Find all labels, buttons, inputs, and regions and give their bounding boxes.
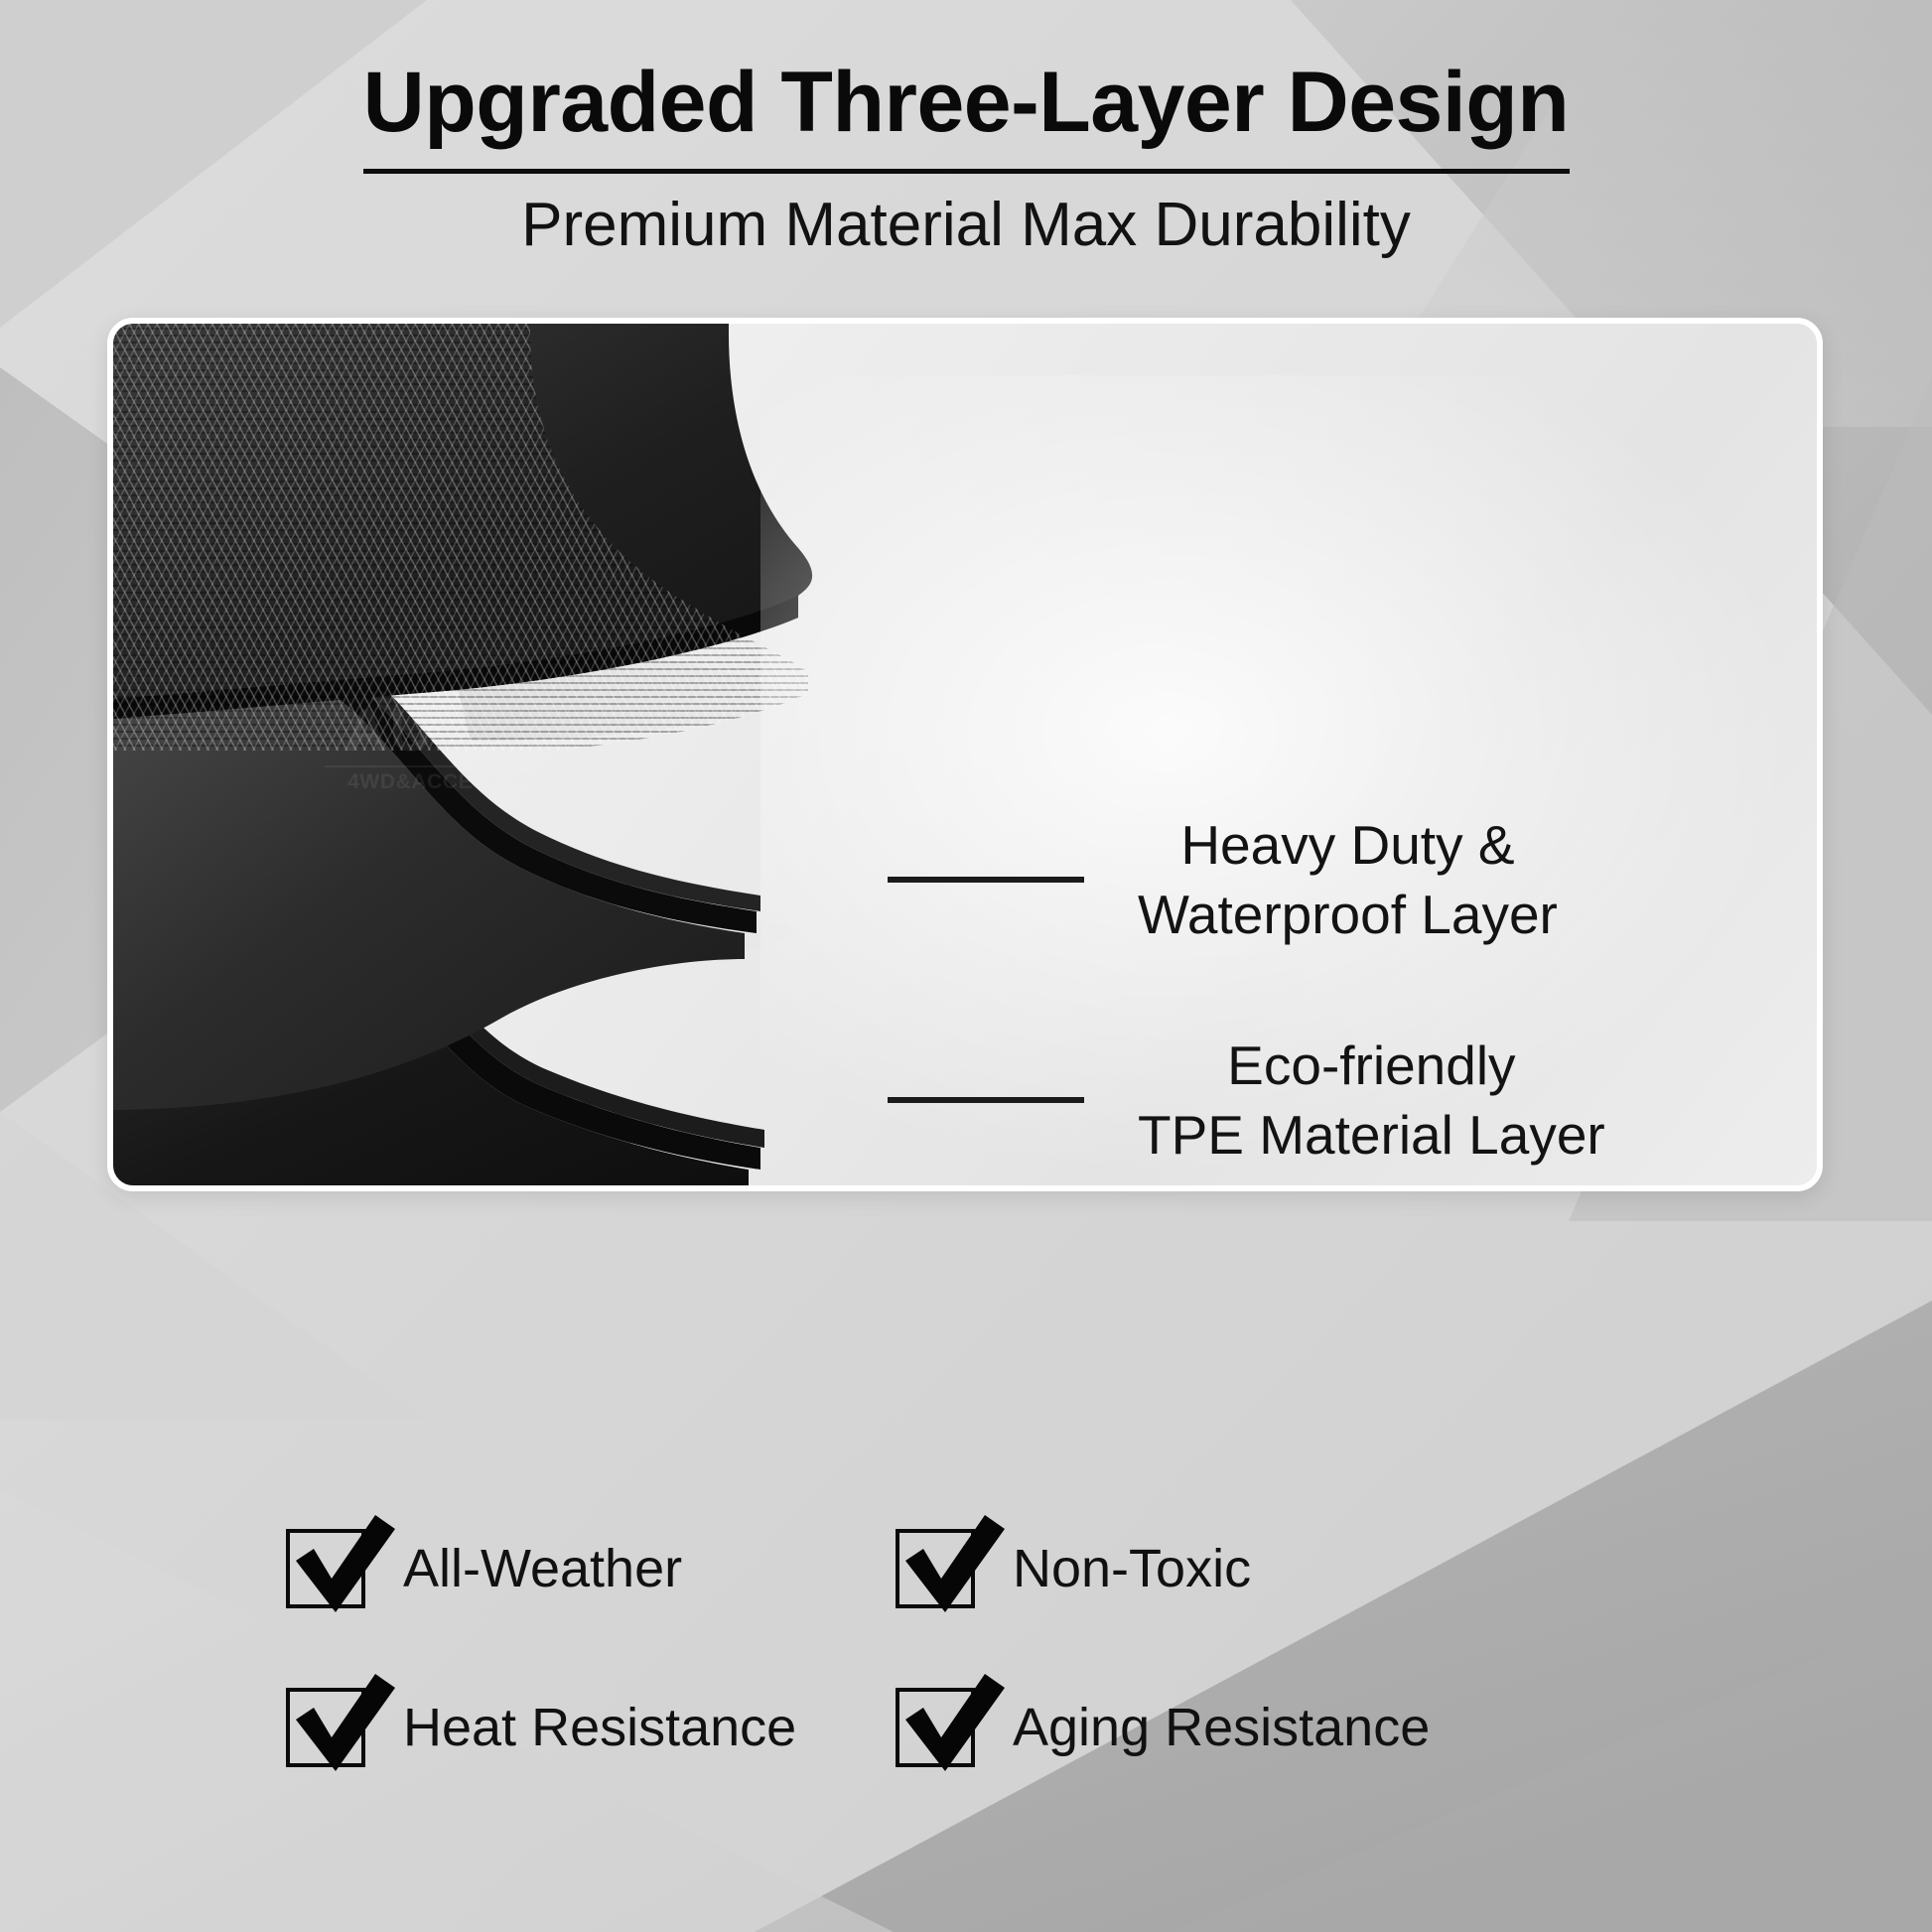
- title-divider: [363, 169, 1570, 174]
- checkbox-checked-icon: [896, 1688, 975, 1767]
- header: Upgraded Three-Layer Design Premium Mate…: [0, 58, 1932, 259]
- callout-heavy-duty: Heavy Duty & Waterproof Layer: [888, 810, 1558, 950]
- callout-heavy-duty-text: Heavy Duty & Waterproof Layer: [1138, 810, 1558, 950]
- callout-line-2: TPE Material Layer: [1138, 1100, 1605, 1170]
- check-glyph: [280, 1509, 399, 1620]
- leader-line-icon: [888, 1097, 1084, 1103]
- feature-row-2: Heat Resistance Aging Resistance: [0, 1688, 1932, 1847]
- feature-label: Aging Resistance: [1013, 1701, 1430, 1754]
- infographic-root: Upgraded Three-Layer Design Premium Mate…: [0, 0, 1932, 1932]
- callout-line-2: Waterproof Layer: [1138, 880, 1558, 949]
- feature-all-weather: All-Weather: [286, 1529, 682, 1608]
- feature-heat-resistance: Heat Resistance: [286, 1688, 796, 1767]
- feature-label: All-Weather: [403, 1542, 682, 1595]
- feature-row-1: All-Weather Non-Toxic: [0, 1529, 1932, 1688]
- product-image-card: AUSGO 4WD&ACCESSORIES Heavy Duty & Water…: [107, 318, 1823, 1191]
- check-glyph: [890, 1509, 1009, 1620]
- feature-checklist: All-Weather Non-Toxic: [0, 1529, 1932, 1847]
- callout-line-1: Eco-friendly: [1138, 1031, 1605, 1100]
- checkbox-checked-icon: [286, 1529, 365, 1608]
- checkbox-checked-icon: [896, 1529, 975, 1608]
- feature-aging-resistance: Aging Resistance: [896, 1688, 1430, 1767]
- check-glyph: [890, 1668, 1009, 1779]
- feature-non-toxic: Non-Toxic: [896, 1529, 1251, 1608]
- check-glyph: [280, 1668, 399, 1779]
- callout-eco-friendly: Eco-friendly TPE Material Layer: [888, 1031, 1605, 1171]
- callout-eco-friendly-text: Eco-friendly TPE Material Layer: [1138, 1031, 1605, 1171]
- leader-line-icon: [888, 877, 1084, 883]
- checkbox-checked-icon: [286, 1688, 365, 1767]
- page-subtitle: Premium Material Max Durability: [0, 192, 1932, 259]
- feature-label: Non-Toxic: [1013, 1542, 1251, 1595]
- callout-line-1: Heavy Duty &: [1138, 810, 1558, 880]
- feature-label: Heat Resistance: [403, 1701, 796, 1754]
- page-title: Upgraded Three-Layer Design: [0, 58, 1932, 147]
